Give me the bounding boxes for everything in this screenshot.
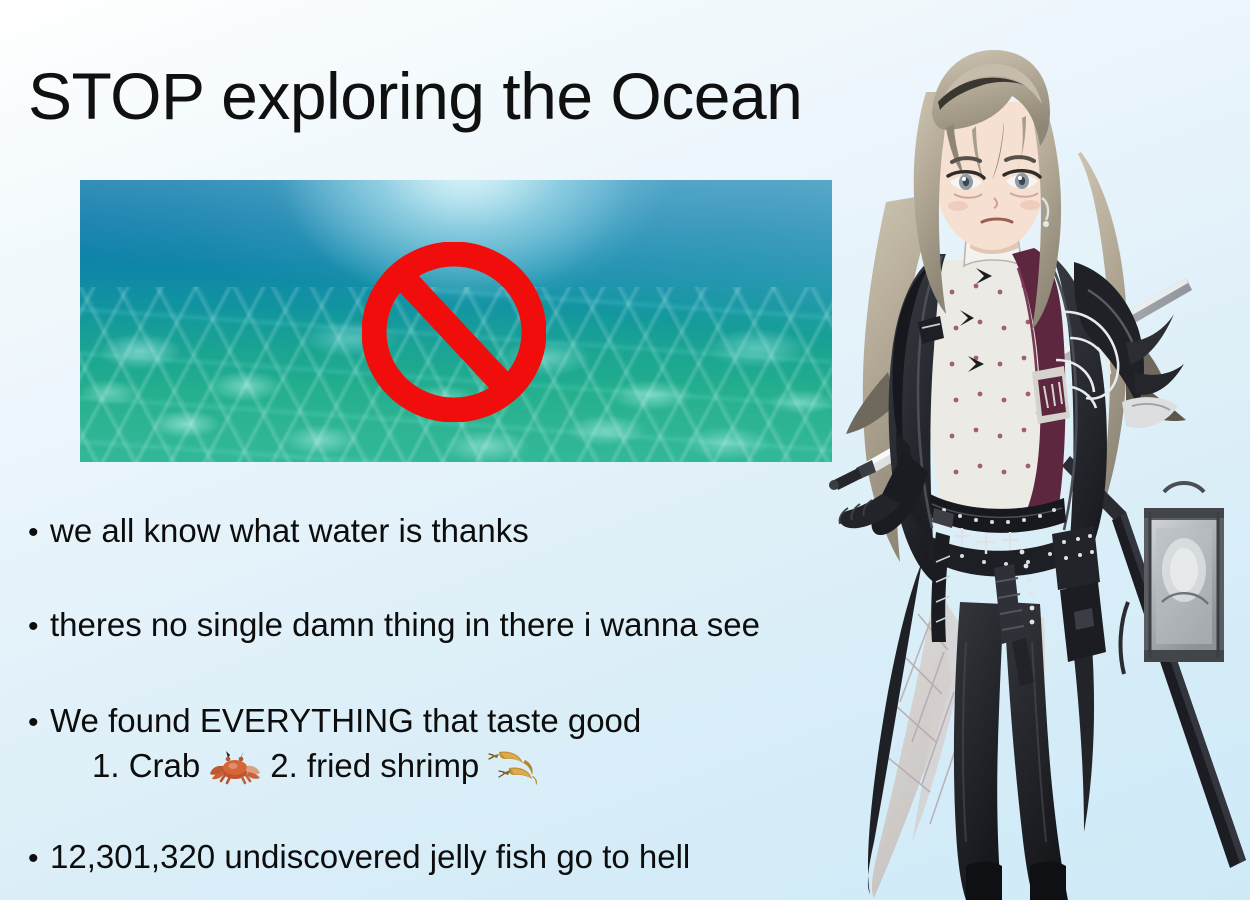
character-gear [918, 316, 1106, 686]
character-hair-back [846, 152, 1186, 562]
no-entry-slash [400, 274, 508, 390]
crab-emoji [208, 746, 262, 786]
bullet-marker-icon: • [28, 518, 50, 548]
list-item: • theres no single damn thing in there i… [28, 606, 848, 644]
scabbard [1062, 456, 1246, 868]
character-jacket [889, 248, 1184, 586]
bullet-text: We found EVERYTHING that taste good [50, 702, 641, 740]
character-head [914, 50, 1061, 330]
coat-skirt [868, 542, 1094, 898]
character-legs [954, 602, 1068, 900]
page-title: STOP exploring the Ocean [28, 62, 802, 131]
bullet-text: 12,301,320 undiscovered jelly fish go to… [50, 838, 690, 876]
list-item: • we all know what water is thanks [28, 512, 848, 550]
character-torso [928, 232, 1066, 512]
character-belts [926, 494, 1072, 642]
bullet-marker-icon: • [28, 844, 50, 874]
sub-list-item-shrimp: 2. fried shrimp [270, 747, 479, 785]
bullet-text: we all know what water is thanks [50, 512, 529, 550]
no-entry-icon [362, 242, 546, 422]
bullet-list: • we all know what water is thanks • the… [28, 512, 848, 876]
sword-weapon [829, 278, 1192, 490]
meme-slide: STOP exploring the Ocean • we all know w… [0, 0, 1250, 900]
bullet-text: theres no single damn thing in there i w… [50, 606, 760, 644]
list-item: • 12,301,320 undiscovered jelly fish go … [28, 838, 848, 876]
lantern [1121, 483, 1224, 674]
bullet-marker-icon: • [28, 612, 50, 642]
sub-list: 1. Crab 2. fried shrimp [92, 746, 848, 786]
character-left-arm [839, 452, 928, 535]
fried-shrimp-emoji [487, 746, 541, 786]
list-item: • We found EVERYTHING that taste good [28, 702, 848, 740]
character-illustration [826, 42, 1250, 900]
sub-list-item-crab: 1. Crab [92, 747, 200, 785]
bullet-marker-icon: • [28, 708, 50, 738]
